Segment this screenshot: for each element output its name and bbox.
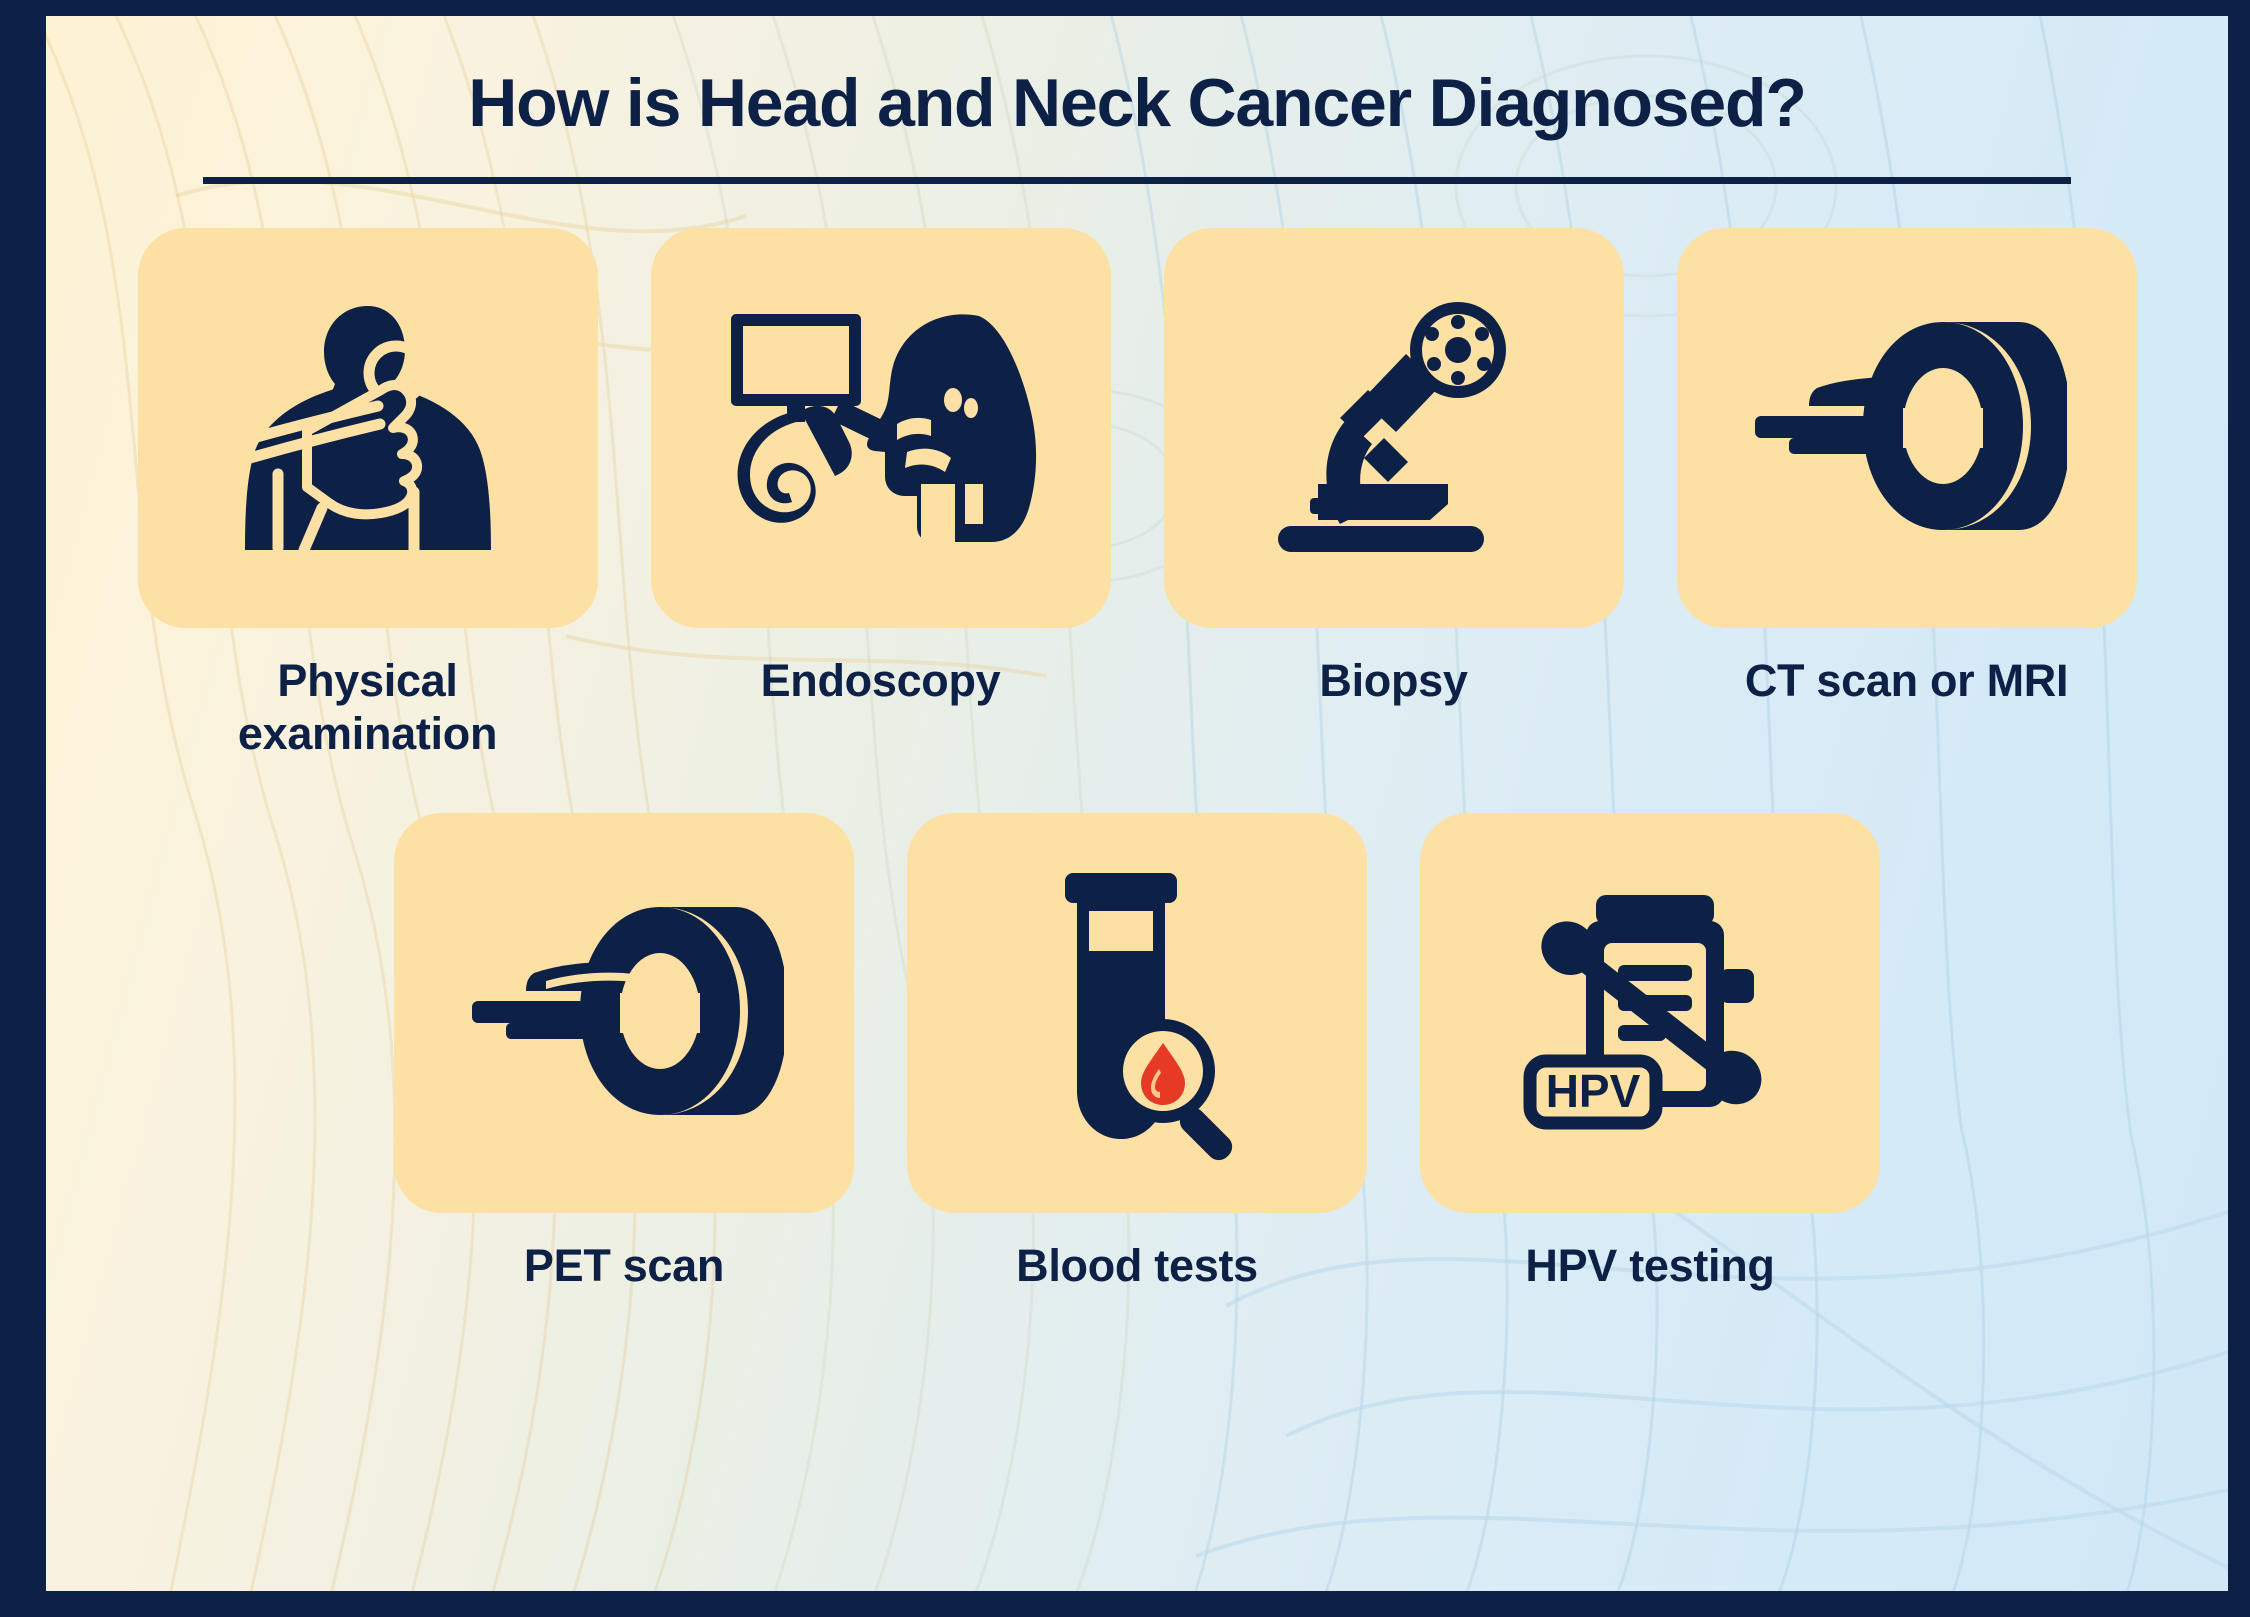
diagnosis-row-2: PET scan — [46, 813, 2228, 1292]
diagnosis-item-blood-tests[interactable]: Blood tests — [907, 813, 1367, 1292]
poster-canvas: How is Head and Neck Cancer Diagnosed? — [46, 16, 2228, 1591]
item-label: HPV testing — [1525, 1239, 1774, 1292]
item-label: PET scan — [524, 1239, 724, 1292]
title-divider — [203, 177, 2071, 184]
diagnosis-row-1: Physical examination — [46, 228, 2228, 760]
icon-card — [138, 228, 598, 628]
diagnosis-item-hpv-testing[interactable]: HPV HPV testing — [1420, 813, 1880, 1292]
icon-card — [394, 813, 854, 1213]
pet-scanner-icon — [464, 893, 784, 1133]
item-label: Physical examination — [148, 654, 588, 760]
hpv-swab-icon: HPV — [1500, 873, 1800, 1153]
item-label: Endoscopy — [761, 654, 1001, 707]
title-block: How is Head and Neck Cancer Diagnosed? — [46, 16, 2228, 184]
microscope-icon — [1244, 288, 1544, 568]
icon-card — [1677, 228, 2137, 628]
hpv-badge-label: HPV — [1546, 1065, 1641, 1117]
ct-scanner-icon — [1747, 308, 2067, 548]
icon-card: HPV — [1420, 813, 1880, 1213]
diagnosis-item-ct-scan-or-mri[interactable]: CT scan or MRI — [1677, 228, 2137, 707]
icon-card — [907, 813, 1367, 1213]
blood-test-tube-icon — [1007, 863, 1267, 1163]
page-title: How is Head and Neck Cancer Diagnosed? — [46, 68, 2228, 139]
icon-card — [651, 228, 1111, 628]
item-label: Biopsy — [1319, 654, 1467, 707]
diagnosis-item-pet-scan[interactable]: PET scan — [394, 813, 854, 1292]
endoscopy-icon — [721, 288, 1041, 568]
diagnosis-item-physical-examination[interactable]: Physical examination — [138, 228, 598, 760]
diagnosis-item-endoscopy[interactable]: Endoscopy — [651, 228, 1111, 707]
icon-card — [1164, 228, 1624, 628]
item-label: Blood tests — [1016, 1239, 1258, 1292]
item-label: CT scan or MRI — [1745, 654, 2068, 707]
poster-frame: How is Head and Neck Cancer Diagnosed? — [0, 0, 2250, 1617]
physical-examination-icon — [218, 278, 518, 578]
diagnosis-item-biopsy[interactable]: Biopsy — [1164, 228, 1624, 707]
